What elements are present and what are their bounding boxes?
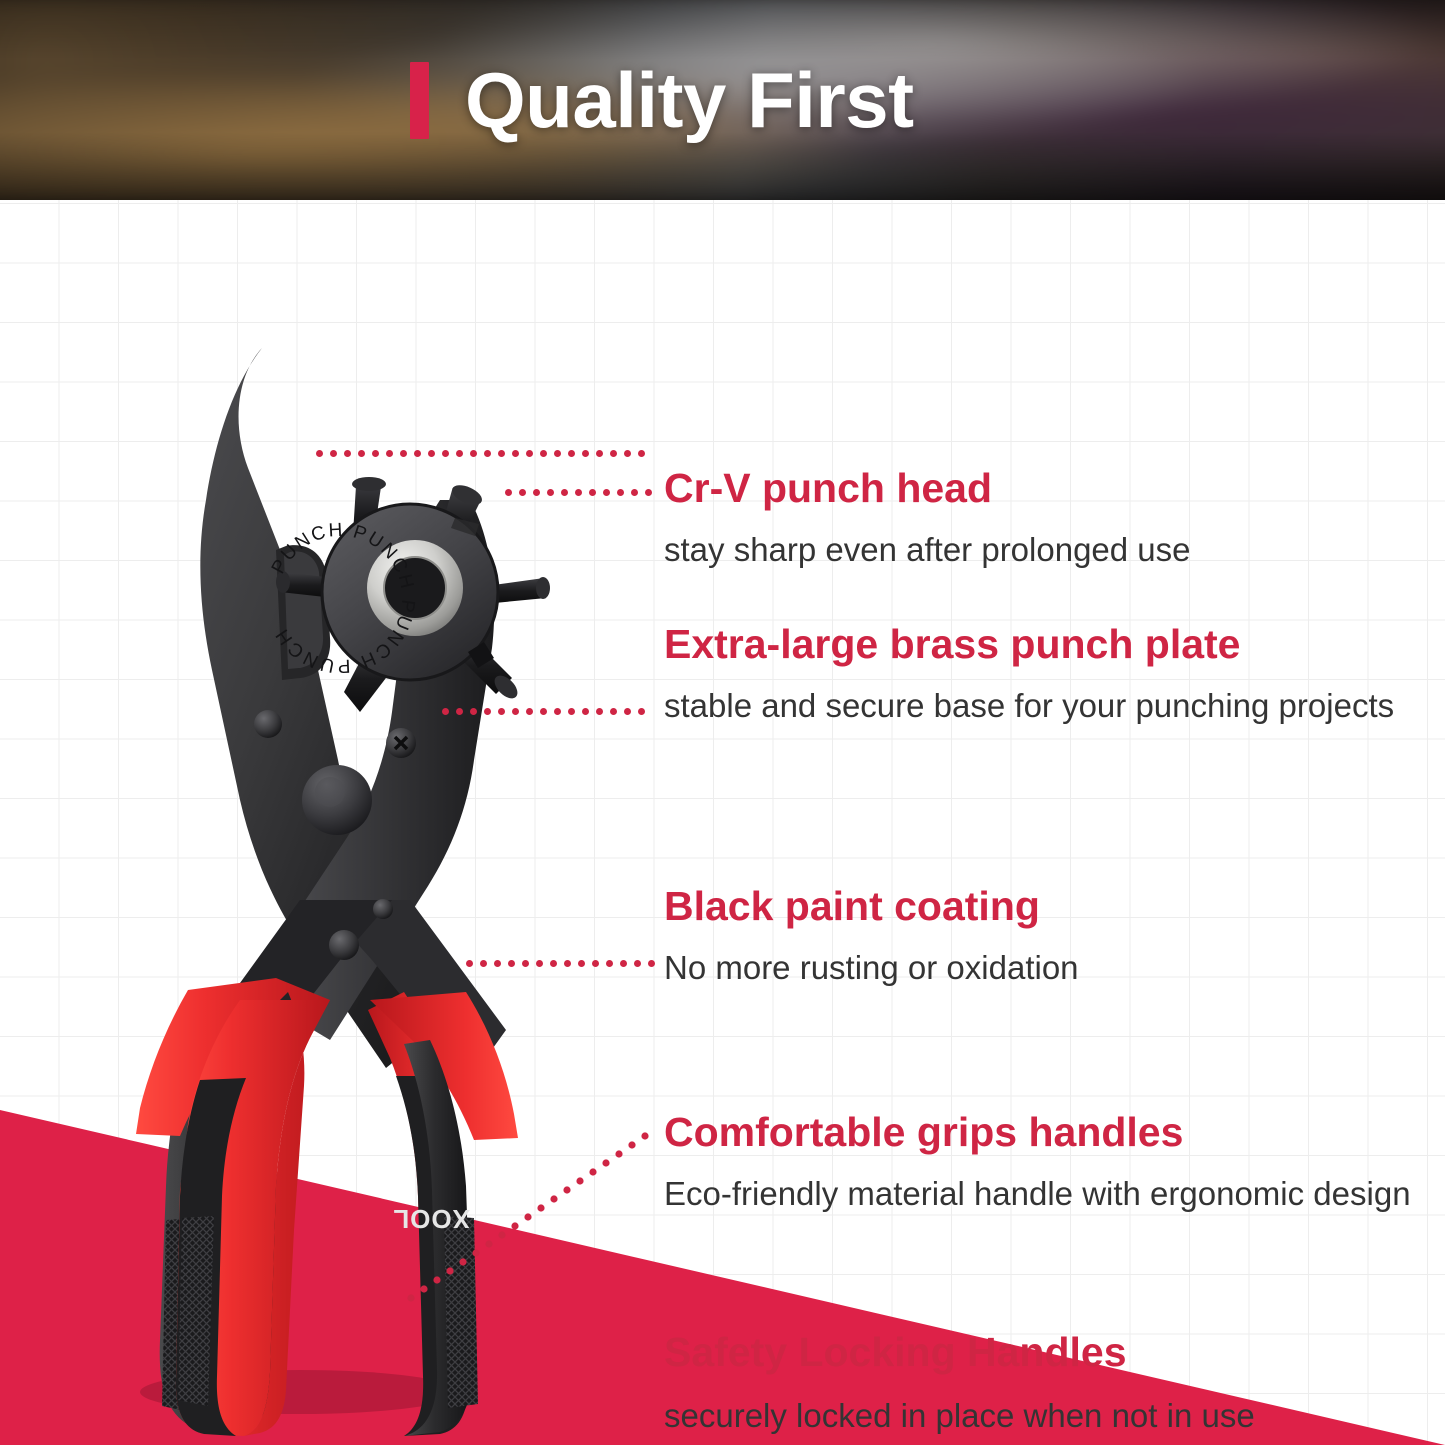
feature-subtitle-5: securely locked in place when not in use xyxy=(664,1399,1255,1432)
feature-block-4: Comfortable grips handles Eco-friendly m… xyxy=(664,1112,1411,1210)
title-accent-bar xyxy=(410,62,429,139)
feature-title-1: Cr-V punch head xyxy=(664,468,1191,509)
svg-text:XOOL: XOOL xyxy=(392,1204,470,1234)
feature-title-4: Comfortable grips handles xyxy=(664,1112,1411,1153)
leader-line-1 xyxy=(505,489,657,497)
feature-title-5: Safety Locking Handles xyxy=(664,1332,1255,1373)
feature-block-1: Cr-V punch head stay sharp even after pr… xyxy=(664,468,1191,566)
product-image-hole-punch-pliers: PUNCH PUNCH PUNCH PUNCH xyxy=(0,200,1445,1445)
feature-subtitle-2: stable and secure base for your punching… xyxy=(664,689,1394,722)
leader-line-3 xyxy=(442,708,658,716)
feature-title-2: Extra-large brass punch plate xyxy=(664,624,1394,665)
feature-subtitle-4: Eco-friendly material handle with ergono… xyxy=(664,1177,1411,1210)
leader-line-4 xyxy=(466,960,658,968)
feature-block-5: Safety Locking Handles securely locked i… xyxy=(664,1332,1255,1432)
feature-subtitle-1: stay sharp even after prolonged use xyxy=(664,533,1191,566)
header-banner: Quality First xyxy=(0,0,1445,200)
feature-title-3: Black paint coating xyxy=(664,886,1079,927)
feature-block-2: Extra-large brass punch plate stable and… xyxy=(664,624,1394,722)
feature-block-3: Black paint coating No more rusting or o… xyxy=(664,886,1079,984)
infographic-page: Quality First xyxy=(0,0,1445,1445)
leader-line-2 xyxy=(316,450,658,458)
content-body: PUNCH PUNCH PUNCH PUNCH xyxy=(0,200,1445,1445)
page-title: Quality First xyxy=(465,61,914,139)
feature-subtitle-3: No more rusting or oxidation xyxy=(664,951,1079,984)
